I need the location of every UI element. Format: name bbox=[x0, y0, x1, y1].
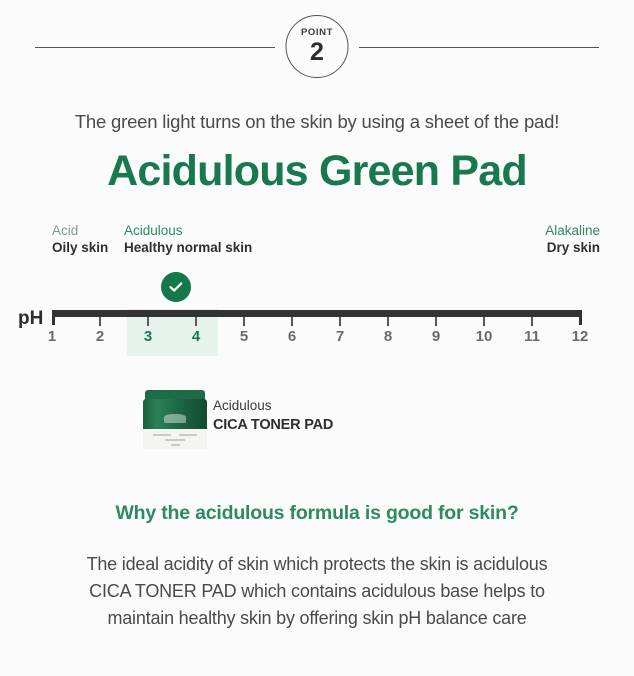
category-skin-alkaline: Dry skin bbox=[545, 239, 600, 257]
jar-label-band bbox=[143, 429, 207, 449]
category-label-acidulous: Acidulous bbox=[124, 222, 252, 239]
ph-tick-label: 6 bbox=[288, 328, 296, 346]
category-label-alkaline: Alakaline bbox=[545, 222, 600, 239]
ph-tick bbox=[483, 317, 485, 326]
ph-scale-block: Acid Oily skin Acidulous Healthy normal … bbox=[0, 222, 634, 382]
category-group-acidulous: Acidulous Healthy normal skin bbox=[124, 222, 252, 257]
ph-tick-label: 8 bbox=[384, 328, 392, 346]
point-badge-number: 2 bbox=[310, 40, 324, 65]
ph-tick-label: 4 bbox=[192, 328, 200, 346]
point-badge-word: POINT bbox=[301, 28, 333, 38]
header-rule-left bbox=[35, 47, 275, 48]
product-name: CICA TONER PAD bbox=[213, 415, 333, 435]
category-group-acid: Acid Oily skin bbox=[52, 222, 108, 257]
jar-emblem bbox=[164, 414, 186, 423]
product-row: Acidulous CICA TONER PAD bbox=[0, 390, 634, 460]
ph-tick bbox=[243, 317, 245, 326]
ph-tick-label: 1 bbox=[48, 328, 56, 346]
jar-label-line bbox=[171, 444, 180, 446]
ph-tick bbox=[147, 317, 149, 326]
point-header: POINT 2 bbox=[0, 0, 634, 95]
ph-axis-cap-start bbox=[52, 310, 55, 325]
page-title: Acidulous Green Pad bbox=[0, 147, 634, 196]
ph-tick-label: 11 bbox=[524, 328, 540, 346]
jar-label-line bbox=[165, 439, 185, 441]
ph-scale-category-labels: Acid Oily skin Acidulous Healthy normal … bbox=[0, 222, 634, 270]
body-copy-line: The ideal acidity of skin which protects… bbox=[0, 551, 634, 578]
jar-body bbox=[143, 399, 207, 448]
ph-tick bbox=[531, 317, 533, 326]
ph-axis-bar bbox=[52, 310, 582, 317]
category-group-alkaline: Alakaline Dry skin bbox=[545, 222, 600, 257]
header-rule-right bbox=[359, 47, 599, 48]
point-badge: POINT 2 bbox=[286, 15, 349, 78]
ph-tick bbox=[99, 317, 101, 326]
ph-tick bbox=[291, 317, 293, 326]
ph-tick bbox=[339, 317, 341, 326]
check-circle-icon bbox=[161, 272, 191, 302]
category-label-acid: Acid bbox=[52, 222, 108, 239]
product-category: Acidulous bbox=[213, 396, 333, 415]
jar-label-line bbox=[153, 434, 171, 436]
ph-tick bbox=[435, 317, 437, 326]
ph-tick-label: 3 bbox=[144, 328, 152, 346]
ph-tick-label: 9 bbox=[432, 328, 440, 346]
body-copy: The ideal acidity of skin which protects… bbox=[0, 551, 634, 632]
ph-tick-label: 12 bbox=[572, 328, 589, 346]
ph-axis-cap-end bbox=[579, 310, 582, 325]
body-copy-line: CICA TONER PAD which contains acidulous … bbox=[0, 578, 634, 605]
body-copy-line: maintain healthy skin by offering skin p… bbox=[0, 605, 634, 632]
jar-label-line bbox=[179, 434, 197, 436]
ph-tick-label: 2 bbox=[96, 328, 104, 346]
ph-tick-label: 7 bbox=[336, 328, 344, 346]
category-skin-acidulous: Healthy normal skin bbox=[124, 239, 252, 257]
ph-tick-label: 5 bbox=[240, 328, 248, 346]
ph-tick bbox=[387, 317, 389, 326]
category-skin-acid: Oily skin bbox=[52, 239, 108, 257]
why-question-title: Why the acidulous formula is good for sk… bbox=[0, 502, 634, 525]
product-text: Acidulous CICA TONER PAD bbox=[213, 396, 333, 435]
ph-tick-label: 10 bbox=[476, 328, 493, 346]
sub-headline: The green light turns on the skin by usi… bbox=[0, 111, 634, 133]
ph-axis-label: pH bbox=[18, 308, 43, 330]
ph-tick bbox=[195, 317, 197, 326]
cica-toner-pad-jar-icon bbox=[143, 390, 207, 448]
